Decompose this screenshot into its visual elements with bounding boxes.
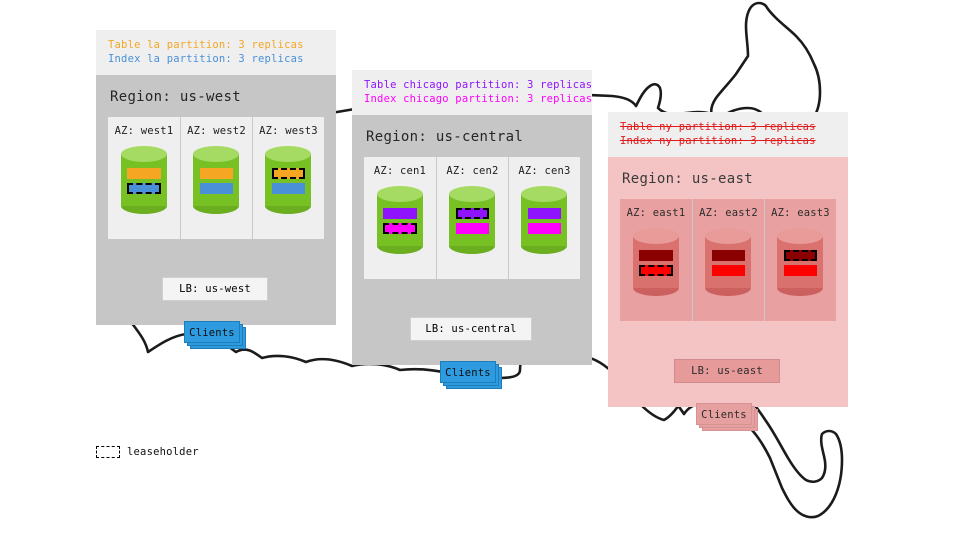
az-west1-bar-table — [127, 168, 160, 179]
az-cen3-node-cylinder — [521, 186, 567, 254]
az-cen1-node-cylinder — [377, 186, 423, 254]
az-east2-bar-table — [712, 250, 745, 261]
us-west-region-title: Region: us-west — [110, 89, 324, 105]
lb-us-central[interactable]: LB: us-central — [410, 317, 532, 341]
az-cen2-label: AZ: cen2 — [437, 165, 508, 177]
az-west2-bar-table — [200, 168, 233, 179]
az-east3-label: AZ: east3 — [765, 207, 836, 219]
clients-us-west[interactable]: Clients — [184, 321, 246, 349]
us-west-partition-legend: Table la partition: 3 replicas Index la … — [96, 30, 336, 75]
az-east1-bar-table — [639, 250, 672, 261]
us-central-region-title: Region: us-central — [366, 129, 580, 145]
az-cen2-bar-table-leaseholder — [456, 208, 489, 219]
az-cen3-bar-index — [528, 223, 561, 234]
az-cen1-label: AZ: cen1 — [364, 165, 436, 177]
clients-us-east[interactable]: Clients — [696, 403, 758, 431]
us-east-az-row: AZ: east1 AZ: east2 — [620, 199, 836, 321]
us-central-legend-line-0: Table chicago partition: 3 replicas — [364, 78, 580, 92]
az-west1-node-cylinder — [121, 146, 167, 214]
region-panel-us-west[interactable]: Table la partition: 3 replicas Index la … — [96, 30, 336, 325]
leaseholder-key-label: leaseholder — [127, 446, 199, 458]
clients-us-central-label: Clients — [440, 361, 496, 383]
az-cen1-bar-index-leaseholder — [383, 223, 416, 234]
az-east1-bar-index-leaseholder — [639, 265, 672, 276]
region-panel-us-central[interactable]: Table chicago partition: 3 replicas Inde… — [352, 70, 592, 365]
az-cen3-bar-table — [528, 208, 561, 219]
leaseholder-key: leaseholder — [96, 446, 199, 458]
az-cen2[interactable]: AZ: cen2 — [436, 157, 508, 279]
az-cen2-node-cylinder — [449, 186, 495, 254]
az-west3[interactable]: AZ: west3 — [252, 117, 324, 239]
us-east-partition-legend: Table ny partition: 3 replicas Index ny … — [608, 112, 848, 157]
az-cen2-bar-index — [456, 223, 489, 234]
az-east2-bar-index — [712, 265, 745, 276]
az-west1[interactable]: AZ: west1 — [108, 117, 180, 239]
us-central-body: Region: us-central AZ: cen1 AZ: cen2 — [352, 115, 592, 365]
az-cen3[interactable]: AZ: cen3 — [508, 157, 580, 279]
clients-us-west-label: Clients — [184, 321, 240, 343]
az-east2[interactable]: AZ: east2 — [692, 199, 764, 321]
az-west2[interactable]: AZ: west2 — [180, 117, 252, 239]
az-west3-bar-index — [272, 183, 305, 194]
az-east2-label: AZ: east2 — [693, 207, 764, 219]
us-central-partition-legend: Table chicago partition: 3 replicas Inde… — [352, 70, 592, 115]
az-east1[interactable]: AZ: east1 — [620, 199, 692, 321]
us-west-az-row: AZ: west1 AZ: west2 — [108, 117, 324, 239]
lb-us-west[interactable]: LB: us-west — [162, 277, 268, 301]
az-west1-label: AZ: west1 — [108, 125, 180, 137]
us-west-body: Region: us-west AZ: west1 AZ: west2 — [96, 75, 336, 325]
us-east-body: Region: us-east AZ: east1 AZ: east2 — [608, 157, 848, 407]
az-east2-node-cylinder — [705, 228, 751, 296]
us-east-legend-line-1: Index ny partition: 3 replicas — [620, 134, 836, 148]
us-west-legend-line-0: Table la partition: 3 replicas — [108, 38, 324, 52]
clients-us-central[interactable]: Clients — [440, 361, 502, 389]
us-east-legend-line-0: Table ny partition: 3 replicas — [620, 120, 836, 134]
us-west-legend-line-1: Index la partition: 3 replicas — [108, 52, 324, 66]
diagram-canvas: Table la partition: 3 replicas Index la … — [0, 0, 960, 540]
lb-us-east[interactable]: LB: us-east — [674, 359, 780, 383]
az-cen1[interactable]: AZ: cen1 — [364, 157, 436, 279]
us-east-region-title: Region: us-east — [622, 171, 836, 187]
us-central-az-row: AZ: cen1 AZ: cen2 — [364, 157, 580, 279]
az-east1-label: AZ: east1 — [620, 207, 692, 219]
clients-us-east-label: Clients — [696, 403, 752, 425]
az-cen3-label: AZ: cen3 — [509, 165, 580, 177]
az-west3-node-cylinder — [265, 146, 311, 214]
leaseholder-dashed-rect-icon — [96, 446, 120, 458]
az-east3-bar-index — [784, 265, 817, 276]
us-central-legend-line-1: Index chicago partition: 3 replicas — [364, 92, 580, 106]
az-east1-node-cylinder — [633, 228, 679, 296]
az-west3-bar-table-leaseholder — [272, 168, 305, 179]
az-west2-bar-index — [200, 183, 233, 194]
az-west1-bar-index-leaseholder — [127, 183, 160, 194]
az-east3-node-cylinder — [777, 228, 823, 296]
az-west2-label: AZ: west2 — [181, 125, 252, 137]
az-east3[interactable]: AZ: east3 — [764, 199, 836, 321]
az-west3-label: AZ: west3 — [253, 125, 324, 137]
az-east3-bar-table-leaseholder — [784, 250, 817, 261]
az-west2-node-cylinder — [193, 146, 239, 214]
region-panel-us-east[interactable]: Table ny partition: 3 replicas Index ny … — [608, 112, 848, 407]
az-cen1-bar-table — [383, 208, 416, 219]
